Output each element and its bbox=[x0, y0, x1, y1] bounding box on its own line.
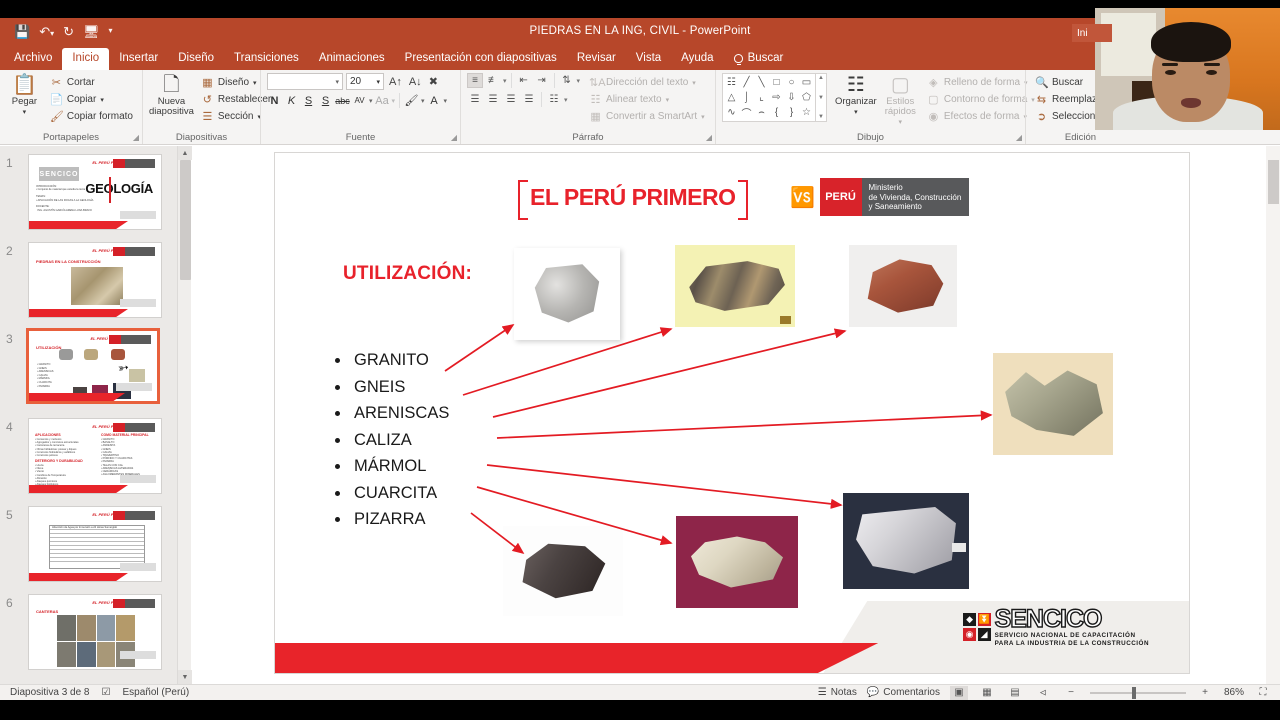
zoom-level-label: 86% bbox=[1224, 687, 1244, 698]
marmol-photo[interactable] bbox=[676, 516, 798, 608]
thumbnail-slide-1[interactable]: 1 EL PERÚ PRIMERO SENCICO INTRODUCCIÓN:•… bbox=[0, 152, 177, 234]
bullet-dot-icon bbox=[335, 358, 340, 363]
align-center-button[interactable]: ☰ bbox=[485, 92, 501, 107]
scroll-down-icon[interactable]: ▼ bbox=[816, 95, 826, 101]
increase-indent-button[interactable]: ⇥ bbox=[534, 73, 550, 88]
scrollbar-thumb[interactable] bbox=[180, 160, 191, 280]
tab-insertar[interactable]: Insertar bbox=[109, 48, 168, 70]
thumbnail-title: UTILIZACIÓN bbox=[36, 345, 61, 350]
chevron-down-icon[interactable]: ▾ bbox=[564, 96, 568, 104]
bullet-label: CALIZA bbox=[354, 431, 412, 450]
quick-styles-icon: ▢ bbox=[891, 75, 910, 96]
decrease-font-size-icon[interactable]: A↓ bbox=[407, 76, 424, 88]
caliza-mini bbox=[129, 369, 145, 382]
font-group-label: Fuente bbox=[261, 132, 460, 143]
thumbnail-canvas[interactable]: EL PERÚ PRIMERO Absorción de Agua por In… bbox=[28, 506, 162, 582]
line-spacing-button[interactable]: ⇅ bbox=[559, 73, 575, 88]
drawing-group-label: Dibujo bbox=[716, 132, 1025, 143]
screen-bottom-letterbox bbox=[0, 700, 1280, 720]
section-icon: ☰ bbox=[201, 110, 214, 123]
slide-area-scrollbar[interactable] bbox=[1266, 146, 1280, 684]
thumbnail-slide-6[interactable]: 6 EL PERÚ PRIMERO CANTERAS bbox=[0, 592, 177, 674]
chevron-down-icon[interactable]: ▾ bbox=[376, 78, 380, 86]
thumbnail-col2-title: COMO MATERIAL PRINCIPAL bbox=[101, 433, 149, 437]
ribbon-group-slides: 🗋 Nueva diapositiva ▦ Diseño ▾ ↺ Restabl… bbox=[142, 70, 260, 144]
thumbnail-col1-list: • Cementos y morteros• Agregados y concr… bbox=[35, 438, 93, 457]
cuarcita-rock-shape bbox=[854, 504, 958, 578]
ministry-mini-logo bbox=[113, 247, 155, 256]
arrow-shape-icon[interactable]: ╲ bbox=[754, 75, 769, 90]
comments-label: Comentarios bbox=[883, 687, 940, 698]
underline-button[interactable]: S bbox=[301, 93, 316, 108]
slideshow-view-button[interactable]: ⏿ bbox=[1034, 686, 1052, 700]
thumbnail-title: PIEDRAS EN LA CONSTRUCCIÓN bbox=[36, 259, 101, 264]
clear-formatting-icon[interactable]: ✖ bbox=[427, 75, 440, 88]
tab-ayuda[interactable]: Ayuda bbox=[671, 48, 723, 70]
smartart-icon: ▦ bbox=[589, 110, 602, 123]
red-footer-bar bbox=[29, 485, 128, 493]
thumbnail-title-col1: APLICACIONES bbox=[35, 433, 61, 437]
rounded-rect-shape-icon[interactable]: ▭ bbox=[799, 75, 814, 90]
tab-inicio[interactable]: Inicio bbox=[62, 48, 109, 70]
shape-fill-button[interactable]: ◈ Relleno de forma ▾ bbox=[924, 75, 1038, 90]
thumbnail-number: 4 bbox=[6, 420, 13, 434]
gneis-mini bbox=[84, 349, 98, 360]
thumbnail-slide-2[interactable]: 2 EL PERÚ PRIMERO PIEDRAS EN LA CONSTRUC… bbox=[0, 240, 177, 322]
convert-smartart-button[interactable]: ▦ Convertir a SmartArt ▾ bbox=[586, 109, 708, 124]
shape-outline-label: Contorno de forma bbox=[944, 94, 1027, 105]
slide-counter: Diapositiva 3 de 8 bbox=[10, 687, 90, 698]
curve-shape-icon[interactable]: ⌒ bbox=[739, 105, 754, 120]
scroll-up-icon[interactable]: ▲ bbox=[816, 75, 826, 81]
textbox-shape-icon[interactable]: ☷ bbox=[724, 75, 739, 90]
chevron-down-icon[interactable]: ▾ bbox=[503, 77, 507, 85]
webcam-person-eye-right bbox=[1206, 70, 1217, 75]
sencico-word: SENCICO bbox=[995, 607, 1149, 632]
clipboard-dialog-launcher-icon[interactable]: ◢ bbox=[133, 133, 139, 142]
ribbon-group-clipboard: 📋 Pegar ▾ ✂ Cortar 📄 Copiar ▾ 🖌 bbox=[0, 70, 142, 144]
webcam-window-light bbox=[1101, 13, 1157, 76]
thumbnail-number: 3 bbox=[6, 332, 13, 346]
new-slide-label: Nueva diapositiva bbox=[149, 97, 194, 117]
chevron-down-icon[interactable]: ▾ bbox=[335, 78, 339, 86]
powerpoint-window: 💾 ↶▾ ↻ 🖥 ▾ PIEDRAS EN LA ING, CIVIL - Po… bbox=[0, 0, 1280, 700]
slide-footer-red-bar bbox=[275, 643, 878, 673]
thumbnail-slide-5[interactable]: 5 EL PERÚ PRIMERO Absorción de Agua por … bbox=[0, 504, 177, 586]
customize-qat-icon[interactable]: ▾ bbox=[109, 27, 113, 35]
peru-coat-of-arms-icon: 🆚 bbox=[786, 178, 820, 216]
quarry-photo-grid bbox=[57, 615, 135, 667]
caliza-rock-shape bbox=[1001, 366, 1105, 442]
sencico-mini-logo bbox=[120, 211, 156, 219]
align-text-button[interactable]: ☷ Alinear texto ▾ bbox=[586, 92, 708, 107]
slide-editing-area[interactable]: EL PERÚ PRIMERO 🆚 PERÚ Ministerio de Viv… bbox=[192, 146, 1258, 684]
columns-button[interactable]: ☷ bbox=[546, 92, 562, 107]
ministry-logo: 🆚 PERÚ Ministerio de Vivienda, Construcc… bbox=[786, 178, 970, 216]
status-bar: Diapositiva 3 de 8 ☑ Español (Perú) ☰ No… bbox=[0, 684, 1280, 700]
italic-button[interactable]: K bbox=[284, 93, 299, 108]
paragraph-dialog-launcher-icon[interactable]: ◢ bbox=[706, 133, 712, 142]
paint-bucket-icon: ◈ bbox=[927, 76, 940, 89]
start-presentation-icon[interactable]: 🖥 bbox=[83, 25, 100, 38]
tab-buscar-label: Buscar bbox=[748, 52, 784, 64]
format-painter-button[interactable]: 🖌 Copiar formato bbox=[47, 109, 136, 124]
quick-styles-label: Estilos rápidos bbox=[885, 97, 916, 117]
reset-icon: ↺ bbox=[201, 93, 214, 106]
sencico-subline-1: SERVICIO NACIONAL DE CAPACITACIÓN bbox=[995, 632, 1149, 640]
scroll-down-icon[interactable]: ▼ bbox=[178, 670, 192, 684]
thumbnail-number: 2 bbox=[6, 244, 13, 258]
format-painter-label: Copiar formato bbox=[67, 111, 133, 122]
ministry-line-1: Ministerio bbox=[869, 183, 962, 193]
new-slide-button[interactable]: 🗋 Nueva diapositiva bbox=[149, 73, 194, 117]
fit-slide-to-window-button[interactable]: ⛶ bbox=[1254, 686, 1272, 700]
tab-transiciones[interactable]: Transiciones bbox=[224, 48, 309, 70]
webcam-video-overlay[interactable] bbox=[1095, 8, 1280, 130]
quick-access-toolbar[interactable]: 💾 ↶▾ ↻ 🖥 ▾ bbox=[0, 25, 113, 38]
layout-label: Diseño bbox=[218, 77, 249, 88]
gneis-photo[interactable] bbox=[675, 245, 795, 327]
font-size-value: 20 bbox=[350, 76, 361, 87]
chevron-down-icon[interactable]: ▾ bbox=[444, 97, 448, 105]
tab-animaciones[interactable]: Animaciones bbox=[309, 48, 395, 70]
numbering-button[interactable]: ≢ bbox=[485, 73, 501, 88]
thumbnail-number: 6 bbox=[6, 596, 13, 610]
red-footer-bar bbox=[29, 573, 128, 581]
red-footer-bar bbox=[29, 393, 125, 401]
copy-icon: 📄 bbox=[50, 93, 63, 106]
shape-effects-button[interactable]: ◉ Efectos de forma ▾ bbox=[924, 109, 1038, 124]
screen-top-letterbox bbox=[0, 0, 1280, 18]
shape-effects-label: Efectos de forma bbox=[944, 111, 1020, 122]
scroll-up-icon[interactable]: ▲ bbox=[178, 146, 192, 160]
cut-button[interactable]: ✂ Cortar bbox=[47, 75, 136, 90]
rectangle-shape-icon[interactable]: □ bbox=[769, 75, 784, 90]
sencico-mini-logo bbox=[120, 651, 156, 659]
lightbulb-icon bbox=[734, 54, 743, 63]
oval-shape-icon[interactable]: ○ bbox=[784, 75, 799, 90]
divider bbox=[399, 93, 400, 108]
webcam-person-brow-right bbox=[1204, 63, 1220, 66]
tab-presentacion[interactable]: Presentación con diapositivas bbox=[395, 48, 567, 70]
change-case-button[interactable]: Aa bbox=[375, 93, 390, 108]
paste-button[interactable]: 📋 Pegar ▾ bbox=[6, 73, 43, 116]
webcam-person-head bbox=[1152, 30, 1230, 122]
thumbnail-title: GEOLOGÍA bbox=[85, 181, 153, 196]
align-text-label: Alinear texto bbox=[606, 94, 662, 105]
spell-check-icon[interactable]: ☑ bbox=[102, 687, 111, 698]
granito-rock-shape bbox=[532, 263, 602, 325]
arrange-icon: ☷ bbox=[847, 75, 865, 96]
tab-revisar[interactable]: Revisar bbox=[567, 48, 626, 70]
sencico-mini-logo bbox=[120, 563, 156, 571]
thumbnail-canvas[interactable]: EL PERÚ PRIMERO PIEDRAS EN LA CONSTRUCCI… bbox=[28, 242, 162, 318]
scale-marker bbox=[780, 316, 791, 324]
slide-thumbnail-panel[interactable]: 1 EL PERÚ PRIMERO SENCICO INTRODUCCIÓN:•… bbox=[0, 146, 177, 684]
text-direction-icon: ⇅A bbox=[589, 76, 602, 89]
slide-header-logos: EL PERÚ PRIMERO 🆚 PERÚ Ministerio de Viv… bbox=[520, 178, 969, 216]
notes-button[interactable]: ☰ Notas bbox=[818, 687, 857, 698]
tab-buscar[interactable]: Buscar bbox=[724, 48, 794, 70]
section-label: Sección bbox=[218, 111, 254, 122]
triangle-shape-icon[interactable]: △ bbox=[724, 90, 739, 105]
bullets-button[interactable]: ≡ bbox=[467, 73, 483, 88]
strikethrough-button[interactable]: abc bbox=[335, 93, 350, 108]
comment-bubble-icon: 💬 bbox=[867, 687, 879, 698]
bullet-dot-icon bbox=[335, 411, 340, 416]
areniscas-mini bbox=[111, 349, 125, 360]
sencico-square-2: ⏬ bbox=[978, 613, 991, 626]
list-item: MÁRMOL bbox=[335, 457, 449, 476]
bullet-dot-icon bbox=[335, 491, 340, 496]
notes-label: Notas bbox=[831, 687, 857, 698]
pentagon-shape-icon[interactable]: ⬠ bbox=[799, 90, 814, 105]
ministry-peru-label: PERÚ bbox=[820, 178, 862, 216]
font-size-input[interactable]: 20 ▾ bbox=[346, 73, 384, 90]
replace-icon: ⇆ bbox=[1035, 93, 1048, 106]
bullet-label: GRANITO bbox=[354, 351, 429, 370]
font-name-input[interactable]: ▾ bbox=[267, 73, 343, 90]
font-dialog-launcher-icon[interactable]: ◢ bbox=[451, 133, 457, 142]
ribbon-group-paragraph: ≡ ≢ ▾ ⇤ ⇥ ⇅ ▾ ☰ ☰ ☰ ☰ bbox=[460, 70, 715, 144]
left-brace-icon[interactable]: { bbox=[769, 105, 784, 120]
text-highlight-icon[interactable]: 🖌 bbox=[404, 93, 419, 108]
zoom-slider-knob[interactable] bbox=[1132, 687, 1136, 699]
character-spacing-button[interactable]: AV bbox=[352, 93, 367, 108]
list-item: PIZARRA bbox=[335, 510, 449, 529]
sencico-mini-logo bbox=[120, 475, 156, 483]
convert-smartart-label: Convertir a SmartArt bbox=[606, 111, 697, 122]
sencico-subline-2: PARA LA INDUSTRIA DE LA CONSTRUCCIÓN bbox=[995, 640, 1149, 648]
down-arrow-shape-icon[interactable]: ⇩ bbox=[784, 90, 799, 105]
pen-outline-icon: ▢ bbox=[927, 93, 940, 106]
layout-icon: ▦ bbox=[201, 76, 214, 89]
thumbnail-bullet-list: • GRANITO• GNEIS• ARENISCAS• CALIZA• MÁR… bbox=[37, 363, 53, 388]
scissors-icon: ✂ bbox=[50, 76, 63, 89]
sencico-virtual-block: SENCICO bbox=[39, 167, 79, 181]
bullet-label: ARENISCAS bbox=[354, 404, 449, 423]
thumbnail-slide-3[interactable]: 3 EL PERÚ PRIMERO UTILIZACIÓN • GRANITO•… bbox=[0, 328, 177, 410]
cursor-select-icon: ➲ bbox=[1035, 110, 1048, 123]
ministry-mini-logo bbox=[113, 599, 155, 608]
thumbnail-canvas[interactable]: EL PERÚ PRIMERO SENCICO INTRODUCCIÓN:• C… bbox=[28, 154, 162, 230]
cuarcita-photo[interactable] bbox=[843, 493, 969, 589]
ministry-mini-logo bbox=[109, 335, 151, 344]
freeform-shape-icon[interactable]: ∿ bbox=[724, 105, 739, 120]
chevron-down-icon[interactable]: ▾ bbox=[392, 97, 396, 105]
thumbnail-title: CANTERAS bbox=[36, 609, 58, 614]
tab-diseno[interactable]: Diseño bbox=[168, 48, 224, 70]
normal-view-button[interactable]: ▣ bbox=[950, 686, 968, 700]
reading-view-button[interactable]: ▤ bbox=[1006, 686, 1024, 700]
chevron-down-icon[interactable]: ▾ bbox=[577, 77, 581, 85]
bullet-dot-icon bbox=[335, 438, 340, 443]
stone-wall-photo bbox=[71, 267, 123, 305]
ribbon-tabs[interactable]: Archivo Inicio Insertar Diseño Transicio… bbox=[0, 44, 1280, 70]
pizarra-photo[interactable] bbox=[503, 526, 623, 616]
bullet-label: GNEIS bbox=[354, 378, 405, 397]
ministry-line-2: de Vivienda, Construcción bbox=[869, 193, 962, 203]
chevron-down-icon[interactable]: ▾ bbox=[369, 97, 373, 105]
align-right-button[interactable]: ☰ bbox=[503, 92, 519, 107]
scrollbar-thumb[interactable] bbox=[1268, 160, 1279, 204]
thumbnail-col1b-title: DETERIORO Y DURABILIDAD bbox=[35, 459, 83, 463]
right-arrow-shape-icon[interactable]: ⇨ bbox=[769, 90, 784, 105]
bullet-dot-icon bbox=[335, 517, 340, 522]
ministry-mini-logo bbox=[113, 159, 155, 168]
red-footer-bar bbox=[29, 221, 128, 229]
areniscas-photo[interactable] bbox=[849, 245, 957, 327]
list-item: CUARCITA bbox=[335, 484, 449, 503]
line-shape-icon[interactable]: ╱ bbox=[739, 75, 754, 90]
shape-outline-button[interactable]: ▢ Contorno de forma ▾ bbox=[924, 92, 1038, 107]
search-icon: 🔍 bbox=[1035, 76, 1048, 89]
arc-shape-icon[interactable]: ⌢ bbox=[754, 105, 769, 120]
ribbon: 📋 Pegar ▾ ✂ Cortar 📄 Copiar ▾ 🖌 bbox=[0, 70, 1280, 145]
pizarra-rock-shape bbox=[517, 540, 609, 602]
current-slide[interactable]: EL PERÚ PRIMERO 🆚 PERÚ Ministerio de Viv… bbox=[274, 152, 1190, 674]
ministry-mini-logo bbox=[113, 511, 155, 520]
marmol-rock-shape bbox=[687, 533, 787, 591]
chevron-down-icon[interactable]: ▾ bbox=[23, 108, 27, 116]
language-label[interactable]: Español (Perú) bbox=[122, 687, 189, 698]
font-color-button[interactable]: A bbox=[427, 93, 442, 108]
granito-photo[interactable] bbox=[514, 248, 620, 340]
copy-label: Copiar bbox=[67, 94, 96, 105]
slides-group-label: Diapositivas bbox=[143, 132, 260, 143]
tab-vista[interactable]: Vista bbox=[626, 48, 671, 70]
slide-sorter-view-button[interactable]: ▦ bbox=[978, 686, 996, 700]
rock-types-list: GRANITO GNEIS ARENISCAS CALIZA MÁRMOL CU… bbox=[335, 351, 449, 537]
init-button[interactable]: Ini bbox=[1072, 24, 1112, 42]
chevron-down-icon[interactable]: ▾ bbox=[421, 97, 425, 105]
ribbon-group-drawing: ☷ ╱ ╲ □ ○ ▭ △ ⌡ ⌞ ⇨ ⇩ ⬠ ∿ ⌒ ⌢ bbox=[715, 70, 1025, 144]
save-icon[interactable]: 💾 bbox=[14, 25, 30, 38]
arrange-button[interactable]: ☷ Organizar ▾ bbox=[835, 73, 877, 116]
find-label: Buscar bbox=[1052, 77, 1083, 88]
list-item: CALIZA bbox=[335, 431, 449, 450]
webcam-person-hair bbox=[1151, 22, 1231, 62]
sencico-mark-icon: ◆ ⏬ ◉ ◢ bbox=[963, 613, 991, 641]
clipboard-icon: 📋 bbox=[12, 75, 37, 96]
thumbnail-number: 1 bbox=[6, 156, 13, 170]
align-text-icon: ☷ bbox=[589, 93, 602, 106]
undo-icon[interactable]: ↶▾ bbox=[39, 25, 54, 38]
paste-label: Pegar bbox=[12, 97, 37, 107]
arrange-label: Organizar bbox=[835, 97, 877, 107]
increase-font-size-icon[interactable]: A↑ bbox=[387, 76, 404, 88]
star-shape-icon[interactable]: ☆ bbox=[799, 105, 814, 120]
ministry-line-3: y Saneamiento bbox=[869, 202, 962, 212]
editing-group-label: Edición bbox=[1026, 132, 1135, 143]
copy-button[interactable]: 📄 Copiar ▾ bbox=[47, 92, 136, 107]
align-left-button[interactable]: ☰ bbox=[467, 92, 483, 107]
text-direction-button[interactable]: ⇅A Dirección del texto ▾ bbox=[586, 75, 708, 90]
ribbon-group-font: ▾ 20 ▾ A↑ A↓ ✖ N K S S abc AV bbox=[260, 70, 460, 144]
webcam-person-eye-left bbox=[1165, 70, 1176, 75]
paragraph-group-label: Párrafo bbox=[461, 132, 715, 143]
list-item: GRANITO bbox=[335, 351, 449, 370]
thumbnail-canvas-selected[interactable]: EL PERÚ PRIMERO UTILIZACIÓN • GRANITO• G… bbox=[26, 328, 160, 404]
webcam-person-mouth bbox=[1181, 98, 1201, 108]
zoom-out-button[interactable]: − bbox=[1062, 686, 1080, 700]
paintbrush-icon: 🖌 bbox=[50, 110, 63, 123]
red-footer-bar bbox=[29, 309, 128, 317]
elbow-connector-icon[interactable]: ⌡ bbox=[739, 90, 754, 105]
sencico-logo: ◆ ⏬ ◉ ◢ SENCICO SERVICIO NACIONAL DE CAP… bbox=[963, 607, 1149, 647]
shadow-button[interactable]: S bbox=[318, 93, 333, 108]
thumbnail-number: 5 bbox=[6, 508, 13, 522]
webcam-person-brow-left bbox=[1162, 63, 1178, 66]
clipboard-group-label: Portapapeles bbox=[0, 132, 142, 143]
bullet-dot-icon bbox=[335, 385, 340, 390]
tab-archivo[interactable]: Archivo bbox=[4, 48, 62, 70]
comments-button[interactable]: 💬 Comentarios bbox=[867, 687, 940, 698]
decrease-indent-button[interactable]: ⇤ bbox=[516, 73, 532, 88]
text-direction-label: Dirección del texto bbox=[606, 77, 688, 88]
areniscas-rock-shape bbox=[861, 257, 945, 315]
shape-fill-label: Relleno de forma bbox=[944, 77, 1020, 88]
drawing-dialog-launcher-icon[interactable]: ◢ bbox=[1016, 133, 1022, 142]
thumbnail-col2-list: • GRANITO• BASALTO• ANDESITA• GNEIS• CAL… bbox=[101, 438, 157, 476]
new-slide-icon: 🗋 bbox=[163, 75, 179, 96]
list-item: ARENISCAS bbox=[335, 404, 449, 423]
specimen-label bbox=[952, 543, 966, 552]
el-peru-primero-logo: EL PERÚ PRIMERO bbox=[520, 184, 746, 211]
thumbnail-canvas[interactable]: EL PERÚ PRIMERO CANTERAS bbox=[28, 594, 162, 670]
thumbnail-panel-scrollbar[interactable]: ▲ ▼ bbox=[177, 146, 191, 684]
shapes-gallery-scroll[interactable]: ▲ ▼ ▼ bbox=[816, 73, 827, 122]
elbow-arrow-icon[interactable]: ⌞ bbox=[754, 90, 769, 105]
bullet-dot-icon bbox=[335, 464, 340, 469]
bold-button[interactable]: N bbox=[267, 93, 282, 108]
ministry-mini-logo bbox=[113, 423, 155, 432]
shapes-gallery[interactable]: ☷ ╱ ╲ □ ○ ▭ △ ⌡ ⌞ ⇨ ⇩ ⬠ ∿ ⌒ ⌢ bbox=[722, 73, 816, 122]
redo-icon[interactable]: ↻ bbox=[63, 25, 74, 38]
bullet-label: MÁRMOL bbox=[354, 457, 426, 476]
zoom-slider[interactable] bbox=[1090, 692, 1186, 694]
notes-icon: ☰ bbox=[818, 687, 827, 698]
granito-mini bbox=[59, 349, 73, 360]
cut-label: Cortar bbox=[67, 77, 95, 88]
shapes-more-icon[interactable]: ▼ bbox=[816, 114, 826, 120]
sencico-mini-logo bbox=[116, 383, 152, 391]
sencico-mini-logo bbox=[120, 299, 156, 307]
gneis-rock-shape bbox=[683, 259, 787, 313]
bullet-label: PIZARRA bbox=[354, 510, 426, 529]
sencico-wordmark: SENCICO SERVICIO NACIONAL DE CAPACITACIÓ… bbox=[995, 607, 1149, 647]
sencico-square-3: ◉ bbox=[963, 628, 976, 641]
bullet-label: CUARCITA bbox=[354, 484, 437, 503]
thumbnail-canvas[interactable]: EL PERÚ PRIMERO APLICACIONES • Cementos … bbox=[28, 418, 162, 494]
right-brace-icon[interactable]: } bbox=[784, 105, 799, 120]
ministry-name-block: Ministerio de Vivienda, Construcción y S… bbox=[862, 178, 970, 216]
zoom-in-button[interactable]: + bbox=[1196, 686, 1214, 700]
slide-section-title: UTILIZACIÓN: bbox=[343, 263, 472, 285]
sencico-square-4: ◢ bbox=[978, 628, 991, 641]
shape-effects-icon: ◉ bbox=[927, 110, 940, 123]
thumbnail-slide-4[interactable]: 4 EL PERÚ PRIMERO APLICACIONES • Cemento… bbox=[0, 416, 177, 498]
justify-button[interactable]: ☰ bbox=[521, 92, 537, 107]
sencico-square-1: ◆ bbox=[963, 613, 976, 626]
caliza-photo[interactable] bbox=[993, 353, 1113, 455]
list-item: GNEIS bbox=[335, 378, 449, 397]
quick-styles-button[interactable]: ▢ Estilos rápidos ▾ bbox=[885, 73, 916, 126]
